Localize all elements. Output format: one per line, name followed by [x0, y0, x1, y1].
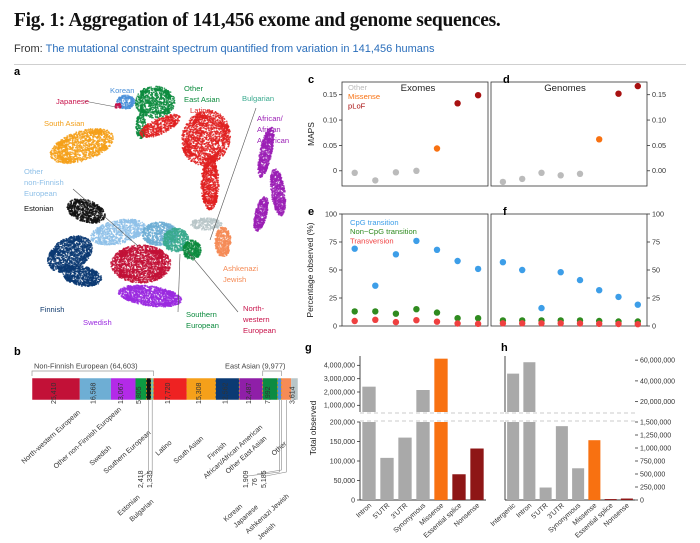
data-point[interactable]	[372, 177, 378, 183]
population-segment[interactable]	[146, 378, 151, 400]
bar[interactable]	[523, 422, 535, 500]
umap-cluster	[118, 284, 182, 307]
data-point[interactable]	[475, 315, 481, 321]
umap-cluster-label: Estonian	[24, 204, 54, 213]
bar[interactable]	[398, 438, 411, 500]
figure-canvas: a JapaneseKoreanOtherEast AsianBulgarian…	[0, 64, 700, 543]
segment-count: 25,410	[51, 382, 58, 404]
segment-count: 7,992	[265, 386, 272, 404]
y-tick-label: 1,250,000	[640, 432, 671, 439]
data-point[interactable]	[577, 277, 583, 283]
y-tick-label: 4,000,000	[324, 363, 355, 370]
segment-count: 17,720	[165, 382, 172, 404]
bar-upper[interactable]	[434, 359, 447, 412]
segment-count: 1,335	[147, 470, 154, 488]
data-point[interactable]	[577, 320, 583, 326]
y-tick-label: 0.15	[323, 90, 337, 99]
umap-cluster	[181, 110, 231, 167]
y-tick-label: 0	[351, 497, 355, 504]
panel-g-label: g	[305, 342, 312, 354]
bar[interactable]	[556, 426, 568, 500]
bar[interactable]	[470, 449, 483, 500]
panel-f-label: f	[503, 206, 507, 218]
group-bracket: East Asian (9,977)	[225, 362, 285, 377]
panel-e: e 0255075100Percentage observed (%)CpG t…	[300, 200, 490, 345]
umap-cluster-label: Bulgarian	[242, 94, 274, 103]
segment-count: 12,487	[246, 382, 253, 404]
data-point[interactable]	[558, 269, 564, 275]
data-point[interactable]	[538, 320, 544, 326]
data-point[interactable]	[635, 83, 641, 89]
bracket-label: East Asian (9,977)	[225, 362, 285, 371]
population-segment[interactable]	[151, 378, 154, 400]
segment-count: 1,909	[243, 470, 250, 488]
segment-count: 5,805	[136, 386, 143, 404]
bar-upper[interactable]	[523, 362, 535, 412]
data-point[interactable]	[615, 294, 621, 300]
umap-cluster-label: North-	[243, 304, 264, 313]
y-tick-label: 1,000,000	[640, 445, 671, 452]
bar[interactable]	[605, 499, 617, 500]
data-point[interactable]	[519, 176, 525, 182]
panel-e-label: e	[308, 206, 314, 218]
y-axis-label: Total observed	[308, 400, 318, 455]
bar[interactable]	[540, 488, 552, 500]
source-line: From: The mutational constraint spectrum…	[14, 43, 686, 55]
bar[interactable]	[452, 474, 465, 500]
segment-callout-line	[266, 400, 286, 476]
data-point[interactable]	[500, 259, 506, 265]
segment-name: North-western European	[21, 409, 82, 465]
bar[interactable]	[380, 458, 393, 500]
y-tick-label: 0	[333, 321, 337, 330]
y-tick-label: 0.00	[652, 166, 666, 175]
x-tick-label: 5'UTR	[372, 502, 391, 520]
panel-title: Exomes	[401, 83, 436, 94]
data-point[interactable]	[475, 266, 481, 272]
data-point[interactable]	[475, 92, 481, 98]
y-tick-label: 250,000	[640, 484, 665, 491]
y-tick-label: 750,000	[640, 458, 665, 465]
umap-cluster-label: African	[257, 125, 281, 134]
segment-count: 13,067	[118, 382, 125, 404]
panel-title: Genomes	[544, 83, 586, 94]
data-point[interactable]	[434, 319, 440, 325]
umap-cluster	[62, 265, 102, 287]
data-point[interactable]	[475, 321, 481, 327]
data-point[interactable]	[434, 309, 440, 315]
bracket-label: Non-Finnish European (64,603)	[34, 362, 138, 371]
legend-entry: pLoF	[348, 101, 366, 110]
panel-c: c 00.050.100.15ExomesMAPSOtherMissensepL…	[300, 64, 490, 204]
data-point[interactable]	[393, 169, 399, 175]
data-point[interactable]	[500, 179, 506, 185]
maps-exomes-scatter: 00.050.100.15ExomesMAPSOtherMissensepLoF	[300, 64, 490, 204]
panel-h: h 0250,000500,000750,0001,000,0001,250,0…	[487, 342, 697, 543]
umap-cluster	[253, 196, 269, 232]
y-tick-label: 0	[652, 321, 656, 330]
bar-upper[interactable]	[416, 390, 429, 412]
y-tick-label: 25	[329, 293, 337, 302]
y-tick-label: 200,000	[330, 419, 355, 426]
umap-cluster	[214, 227, 232, 258]
umap-cluster-label: African/	[257, 114, 283, 123]
data-point[interactable]	[538, 170, 544, 176]
population-segment[interactable]	[278, 378, 282, 400]
plot-frame	[491, 214, 647, 326]
y-tick-label: 1,000,000	[324, 403, 355, 410]
y-tick-label: 0.05	[652, 141, 666, 150]
umap-cluster	[200, 158, 219, 211]
umap-cluster-label: Finnish	[40, 305, 64, 314]
y-tick-label: 500,000	[640, 471, 665, 478]
bar-upper[interactable]	[362, 387, 375, 412]
x-tick-label: Intergenic	[490, 502, 518, 528]
y-axis-label: Percentage observed (%)	[305, 222, 315, 317]
umap-cluster	[110, 244, 171, 283]
data-point[interactable]	[393, 251, 399, 257]
panel-a-label: a	[14, 66, 20, 78]
y-tick-label: 40,000,000	[640, 378, 675, 385]
umap-cluster-label: European	[243, 326, 276, 335]
data-point[interactable]	[454, 258, 460, 264]
umap-cluster-label: European	[186, 321, 219, 330]
data-point[interactable]	[352, 170, 358, 176]
y-tick-label: 100,000	[330, 458, 355, 465]
umap-cluster	[90, 219, 146, 246]
legend-entry: Transversion	[350, 236, 394, 245]
panel-a: a JapaneseKoreanOtherEast AsianBulgarian…	[10, 64, 305, 349]
data-point[interactable]	[413, 168, 419, 174]
panel-d: d 0.000.050.100.15Genomes	[487, 64, 692, 204]
legend-entry: Other	[348, 83, 367, 92]
y-tick-label: 0.05	[323, 141, 337, 150]
panel-d-label: d	[503, 74, 510, 86]
y-tick-label: 75	[652, 237, 660, 246]
figure-header: Fig. 1: Aggregation of 141,456 exome and…	[0, 0, 700, 55]
bar[interactable]	[572, 468, 584, 500]
umap-cluster-label: Southern	[186, 310, 217, 319]
umap-cluster-label: East Asian	[184, 95, 220, 104]
umap-cluster-label: Ashkenazi	[223, 264, 258, 273]
data-point[interactable]	[558, 172, 564, 178]
data-point[interactable]	[615, 91, 621, 97]
population-stacked-bar: Non-Finnish European (64,603)East Asian …	[10, 346, 305, 543]
segment-name: Latino	[155, 439, 174, 457]
umap-cluster	[190, 217, 223, 230]
data-point[interactable]	[615, 321, 621, 327]
data-point[interactable]	[500, 320, 506, 326]
data-point[interactable]	[558, 320, 564, 326]
umap-cluster-label: non-Finnish	[24, 178, 64, 187]
data-point[interactable]	[454, 100, 460, 106]
segment-count: 2,418	[138, 470, 145, 488]
umap-cluster-label: Other	[24, 167, 43, 176]
bar[interactable]	[416, 422, 429, 500]
umap-cluster-label: Jewish	[223, 275, 246, 284]
data-point[interactable]	[372, 308, 378, 314]
data-point[interactable]	[538, 305, 544, 311]
segment-count: 76	[252, 478, 259, 486]
umap-cluster-label: Korean	[110, 86, 135, 95]
bar[interactable]	[621, 499, 633, 500]
data-point[interactable]	[393, 319, 399, 325]
group-bracket: Non-Finnish European (64,603)	[32, 362, 153, 377]
y-tick-label: 25	[652, 293, 660, 302]
data-point[interactable]	[434, 247, 440, 253]
umap-cluster-label: Other	[184, 84, 203, 93]
umap-cluster-label: Latino	[190, 106, 211, 115]
segment-count: 5,185	[261, 470, 268, 488]
umap-cluster-label: western	[243, 315, 270, 324]
data-point[interactable]	[413, 306, 419, 312]
y-tick-label: 50,000	[334, 478, 356, 485]
segment-count: 15,308	[196, 382, 203, 404]
total-observed-genomes-bar: 0250,000500,000750,0001,000,0001,250,000…	[487, 342, 697, 543]
data-point[interactable]	[635, 302, 641, 308]
y-tick-label: 100	[325, 209, 337, 218]
data-point[interactable]	[393, 311, 399, 317]
data-point[interactable]	[352, 246, 358, 252]
y-tick-label: 1,500,000	[640, 419, 671, 426]
y-tick-label: 100	[652, 209, 664, 218]
data-point[interactable]	[352, 308, 358, 314]
y-tick-label: 0.10	[323, 115, 337, 124]
panel-b-label: b	[14, 346, 21, 358]
umap-cluster-label: South Asian	[44, 119, 85, 128]
umap-cluster	[50, 128, 114, 164]
data-point[interactable]	[635, 321, 641, 327]
umap-cluster	[66, 198, 105, 224]
y-tick-label: 20,000,000	[640, 399, 675, 406]
total-observed-exomes-bar: 050,000100,000150,000200,0001,000,0002,0…	[300, 342, 490, 543]
y-axis-label: MAPS	[306, 122, 316, 146]
umap-cluster-label: European	[24, 189, 57, 198]
data-point[interactable]	[519, 320, 525, 326]
panel-b: b Non-Finnish European (64,603)East Asia…	[10, 346, 305, 543]
maps-genomes-scatter: 0.000.050.100.15Genomes	[487, 64, 692, 204]
from-label: From:	[14, 43, 43, 55]
data-point[interactable]	[413, 238, 419, 244]
data-point[interactable]	[434, 145, 440, 151]
data-point[interactable]	[519, 267, 525, 273]
data-point[interactable]	[352, 318, 358, 324]
segment-count: 16,568	[90, 382, 97, 404]
bar[interactable]	[588, 440, 600, 500]
y-tick-label: 50	[652, 265, 660, 274]
data-point[interactable]	[372, 283, 378, 289]
y-tick-label: 50	[329, 265, 337, 274]
y-tick-label: 0	[333, 166, 337, 175]
x-tick-label: 5'UTR	[530, 502, 549, 520]
data-point[interactable]	[596, 287, 602, 293]
legend-entry: Missense	[348, 92, 380, 101]
y-tick-label: 60,000,000	[640, 358, 675, 365]
panel-c-label: c	[308, 74, 314, 86]
data-point[interactable]	[454, 320, 460, 326]
bar[interactable]	[434, 422, 447, 500]
bar[interactable]	[507, 422, 519, 500]
plot-frame	[491, 82, 647, 186]
panel-f: f 0255075100	[487, 200, 692, 345]
umap-cluster	[270, 168, 287, 216]
data-point[interactable]	[577, 171, 583, 177]
data-point[interactable]	[596, 321, 602, 327]
y-tick-label: 75	[329, 237, 337, 246]
umap-cluster-label: Japanese	[56, 97, 89, 106]
y-tick-label: 0.10	[652, 115, 666, 124]
data-point[interactable]	[372, 317, 378, 323]
segment-count: 12,562	[222, 382, 229, 404]
umap-cluster-label: American	[257, 136, 289, 145]
data-point[interactable]	[596, 136, 602, 142]
segment-name: South Asian	[173, 435, 206, 465]
y-tick-label: 150,000	[330, 439, 355, 446]
umap-cluster-label: Swedish	[83, 318, 112, 327]
panel-h-label: h	[501, 342, 508, 354]
percentage-observed-genomes-scatter: 0255075100	[487, 200, 692, 345]
segment-count: 3,614	[290, 386, 297, 404]
y-tick-label: 0	[640, 497, 644, 504]
source-article-link[interactable]: The mutational constraint spectrum quant…	[46, 43, 435, 55]
bar[interactable]	[362, 422, 375, 500]
percentage-observed-exomes-scatter: 0255075100Percentage observed (%)CpG tra…	[300, 200, 490, 345]
y-tick-label: 3,000,000	[324, 376, 355, 383]
page-title: Fig. 1: Aggregation of 141,456 exome and…	[14, 10, 686, 32]
x-tick-label: Intron	[355, 502, 373, 519]
y-tick-label: 0.15	[652, 90, 666, 99]
legend-entry: Non−CpG transition	[350, 227, 417, 236]
legend-entry: CpG transition	[350, 218, 399, 227]
panel-g: g 050,000100,000150,000200,0001,000,0002…	[300, 342, 490, 543]
umap-cluster	[182, 239, 201, 260]
bar-upper[interactable]	[507, 374, 519, 412]
segment-name: Southern European	[103, 430, 153, 476]
y-tick-label: 2,000,000	[324, 389, 355, 396]
data-point[interactable]	[413, 317, 419, 323]
